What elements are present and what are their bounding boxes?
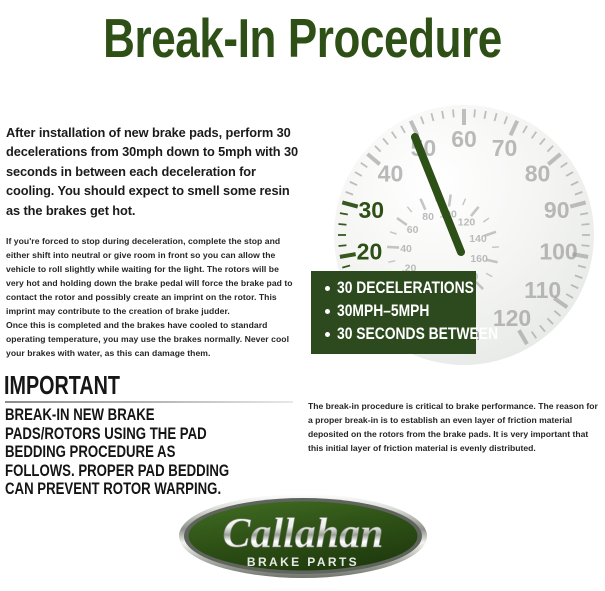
svg-text:20: 20: [357, 239, 383, 265]
list-item: 30MPH–5MPH: [311, 300, 476, 323]
page-title: Break-In Procedure: [61, 6, 545, 70]
svg-text:60: 60: [407, 224, 419, 236]
svg-text:80: 80: [422, 211, 434, 223]
svg-text:160: 160: [470, 253, 488, 265]
svg-text:110: 110: [524, 277, 561, 303]
svg-text:80: 80: [525, 160, 551, 186]
svg-text:90: 90: [544, 197, 570, 223]
logo-tagline: BRAKE PARTS: [247, 555, 359, 569]
important-heading: IMPORTANT: [4, 372, 120, 398]
poster-page: Break-In Procedure: [0, 0, 605, 591]
bullet-dot-icon: [325, 332, 330, 337]
svg-text:70: 70: [492, 135, 518, 161]
svg-text:60: 60: [451, 126, 477, 152]
body-paragraph-2: Once this is completed and the brakes ha…: [6, 318, 298, 360]
list-item: 30 SECONDS BETWEEN: [311, 323, 476, 346]
body-paragraph-1: If you're forced to stop during decelera…: [6, 234, 298, 319]
bullet-dot-icon: [325, 286, 330, 291]
bullet-dot-icon: [325, 309, 330, 314]
svg-text:40: 40: [378, 160, 404, 186]
right-column-paragraph: The break-in procedure is critical to br…: [308, 399, 601, 455]
svg-text:120: 120: [458, 216, 476, 228]
callout-bullet-2: 30MPH–5MPH: [337, 300, 429, 323]
callout-bullet-3: 30 SECONDS BETWEEN: [337, 323, 498, 346]
callout-bullet-1: 30 DECELERATIONS: [337, 277, 474, 300]
callout-box: 30 DECELERATIONS 30MPH–5MPH 30 SECONDS B…: [311, 271, 476, 354]
svg-text:120: 120: [493, 305, 531, 331]
important-body: BREAK-IN NEW BRAKE PADS/ROTORS USING THE…: [5, 406, 245, 499]
svg-text:100: 100: [539, 239, 577, 265]
section-divider: [5, 401, 293, 403]
callout-list: 30 DECELERATIONS 30MPH–5MPH 30 SECONDS B…: [311, 277, 476, 346]
svg-text:40: 40: [400, 243, 412, 255]
list-item: 30 DECELERATIONS: [311, 277, 476, 300]
svg-text:140: 140: [469, 233, 487, 245]
logo-wordmark: Callahan: [222, 511, 383, 557]
lead-paragraph: After installation of new brake pads, pe…: [6, 123, 298, 220]
callahan-logo: Callahan BRAKE PARTS: [178, 492, 428, 580]
svg-text:30: 30: [358, 197, 384, 223]
